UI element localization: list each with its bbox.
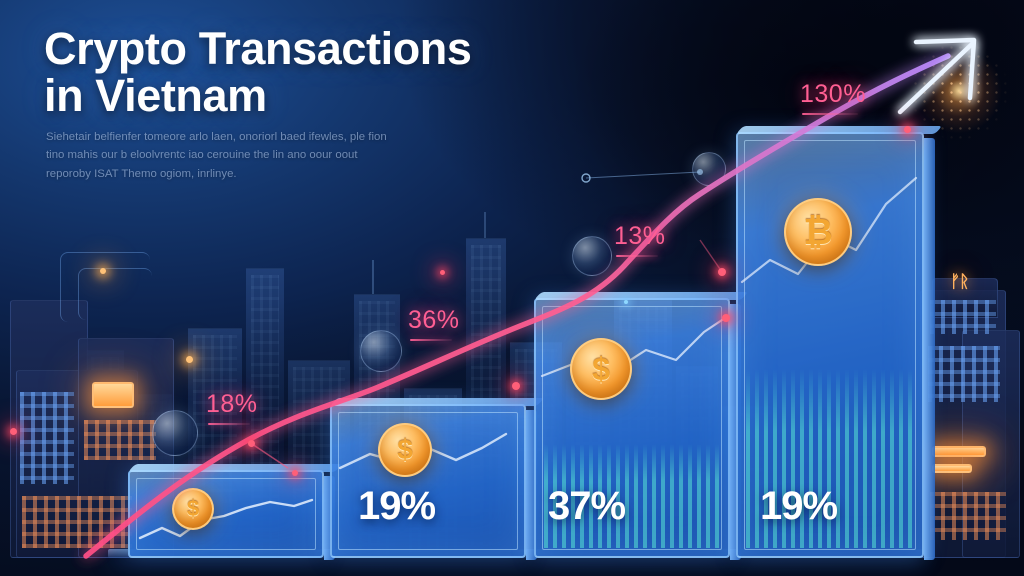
page-title-line2: in Vietnam: [44, 73, 604, 120]
annotation-36: 36%: [408, 306, 460, 335]
page-title: Crypto Transactions in Vietnam: [44, 26, 604, 120]
page-subtitle: Siehetair belfienfer tomeore arlo laen, …: [46, 128, 398, 183]
annotation-18: 18%: [206, 390, 258, 419]
annotation-130: 130%: [800, 80, 866, 109]
page-title-line1: Crypto Transactions: [44, 23, 472, 74]
annotation-13: 13%: [614, 222, 666, 251]
infographic-canvas: ᚠᚱ $ $ 19%: [0, 0, 1024, 576]
